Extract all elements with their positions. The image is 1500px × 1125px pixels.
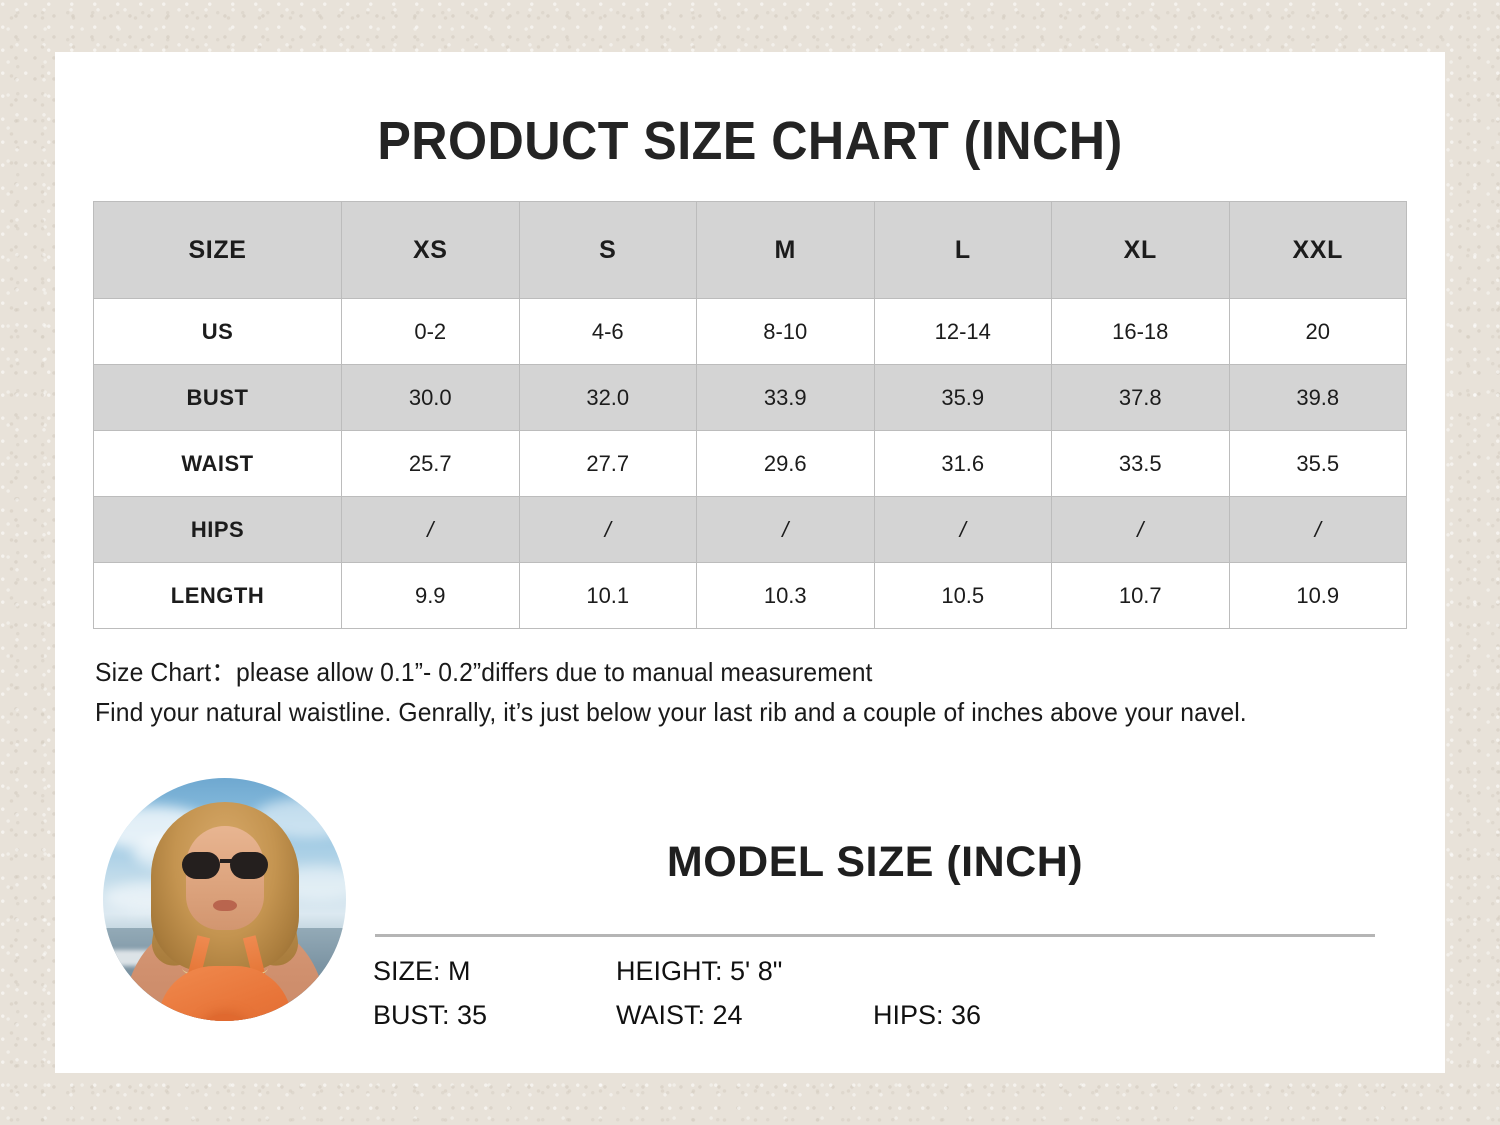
row-label-us: US <box>94 299 342 365</box>
model-spec-size-value: M <box>448 956 471 986</box>
table-row: BUST 30.0 32.0 33.9 35.9 37.8 39.8 <box>94 365 1407 431</box>
cell-us-s: 4-6 <box>519 299 697 365</box>
cell-length-xl: 10.7 <box>1052 563 1230 629</box>
cell-waist-xl: 33.5 <box>1052 431 1230 497</box>
model-spec-hips-value: 36 <box>951 1000 981 1030</box>
column-header-s: S <box>519 202 697 299</box>
cell-waist-xs: 25.7 <box>342 431 520 497</box>
table-row: WAIST 25.7 27.7 29.6 31.6 33.5 35.5 <box>94 431 1407 497</box>
note-size-chart-tolerance: Size Chart：please allow 0.1”- 0.2”differ… <box>95 652 1330 692</box>
size-chart-table: SIZE XS S M L XL XXL US 0-2 4-6 8-10 12-… <box>93 201 1407 629</box>
measurement-notes: Size Chart：please allow 0.1”- 0.2”differ… <box>95 652 1395 732</box>
model-spec-waist-label: WAIST: <box>616 1000 713 1030</box>
row-label-length: LENGTH <box>94 563 342 629</box>
cell-us-xl: 16-18 <box>1052 299 1230 365</box>
cell-us-xs: 0-2 <box>342 299 520 365</box>
row-label-waist: WAIST <box>94 431 342 497</box>
model-spec-hips: HIPS: 36 <box>873 1000 981 1031</box>
cell-length-m: 10.3 <box>697 563 875 629</box>
cell-length-l: 10.5 <box>874 563 1052 629</box>
row-label-bust: BUST <box>94 365 342 431</box>
model-spec-row: BUST: 35 WAIST: 24 HIPS: 36 <box>373 1000 1378 1044</box>
cell-length-xxl: 10.9 <box>1229 563 1407 629</box>
cell-hips-l: / <box>874 497 1052 563</box>
model-spec-size-label: SIZE: <box>373 956 448 986</box>
page-title: PRODUCT SIZE CHART (INCH) <box>104 110 1397 172</box>
cell-bust-xl: 37.8 <box>1052 365 1230 431</box>
model-spec-size: SIZE: M <box>373 956 471 987</box>
cell-bust-l: 35.9 <box>874 365 1052 431</box>
column-header-l: L <box>874 202 1052 299</box>
cell-bust-xs: 30.0 <box>342 365 520 431</box>
model-section-divider <box>375 934 1375 937</box>
sunglasses-icon <box>182 852 268 879</box>
table-row: HIPS / / / / / / <box>94 497 1407 563</box>
model-spec-height: HEIGHT: 5' 8" <box>616 956 782 987</box>
column-header-xs: XS <box>342 202 520 299</box>
model-spec-row: SIZE: M HEIGHT: 5' 8" <box>373 956 1378 1000</box>
cell-waist-s: 27.7 <box>519 431 697 497</box>
column-header-m: M <box>697 202 875 299</box>
cell-waist-m: 29.6 <box>697 431 875 497</box>
cell-us-xxl: 20 <box>1229 299 1407 365</box>
cell-hips-s: / <box>519 497 697 563</box>
cell-waist-l: 31.6 <box>874 431 1052 497</box>
cell-hips-xxl: / <box>1229 497 1407 563</box>
model-spec-height-value: 5' 8" <box>730 956 782 986</box>
cell-length-xs: 9.9 <box>342 563 520 629</box>
cell-bust-xxl: 39.8 <box>1229 365 1407 431</box>
column-header-size: SIZE <box>94 202 342 299</box>
size-chart-table-container: SIZE XS S M L XL XXL US 0-2 4-6 8-10 12-… <box>93 201 1406 629</box>
model-spec-bust-value: 35 <box>457 1000 487 1030</box>
table-header-row: SIZE XS S M L XL XXL <box>94 202 1407 299</box>
model-spec-bust: BUST: 35 <box>373 1000 487 1031</box>
model-size-title: MODEL SIZE (INCH) <box>375 838 1375 887</box>
model-spec-waist-value: 24 <box>713 1000 743 1030</box>
cell-hips-xl: / <box>1052 497 1230 563</box>
cell-us-m: 8-10 <box>697 299 875 365</box>
size-chart-panel: PRODUCT SIZE CHART (INCH) SIZE XS S M L … <box>55 52 1445 1073</box>
cell-length-s: 10.1 <box>519 563 697 629</box>
model-spec-hips-label: HIPS: <box>873 1000 951 1030</box>
model-spec-list: SIZE: M HEIGHT: 5' 8" BUST: 35 WAIST: 24 <box>373 956 1378 1044</box>
cell-bust-s: 32.0 <box>519 365 697 431</box>
table-row: LENGTH 9.9 10.1 10.3 10.5 10.7 10.9 <box>94 563 1407 629</box>
model-spec-bust-label: BUST: <box>373 1000 457 1030</box>
model-photo <box>103 778 346 1021</box>
model-spec-height-label: HEIGHT: <box>616 956 730 986</box>
note-waistline-tip: Find your natural waistline. Genrally, i… <box>95 692 1330 732</box>
model-size-section: MODEL SIZE (INCH) SIZE: M HEIGHT: 5' 8" … <box>55 770 1445 1050</box>
cell-us-l: 12-14 <box>874 299 1052 365</box>
row-label-hips: HIPS <box>94 497 342 563</box>
table-row: US 0-2 4-6 8-10 12-14 16-18 20 <box>94 299 1407 365</box>
cell-hips-m: / <box>697 497 875 563</box>
cell-waist-xxl: 35.5 <box>1229 431 1407 497</box>
column-header-xxl: XXL <box>1229 202 1407 299</box>
column-header-xl: XL <box>1052 202 1230 299</box>
cell-hips-xs: / <box>342 497 520 563</box>
model-spec-waist: WAIST: 24 <box>616 1000 743 1031</box>
cell-bust-m: 33.9 <box>697 365 875 431</box>
